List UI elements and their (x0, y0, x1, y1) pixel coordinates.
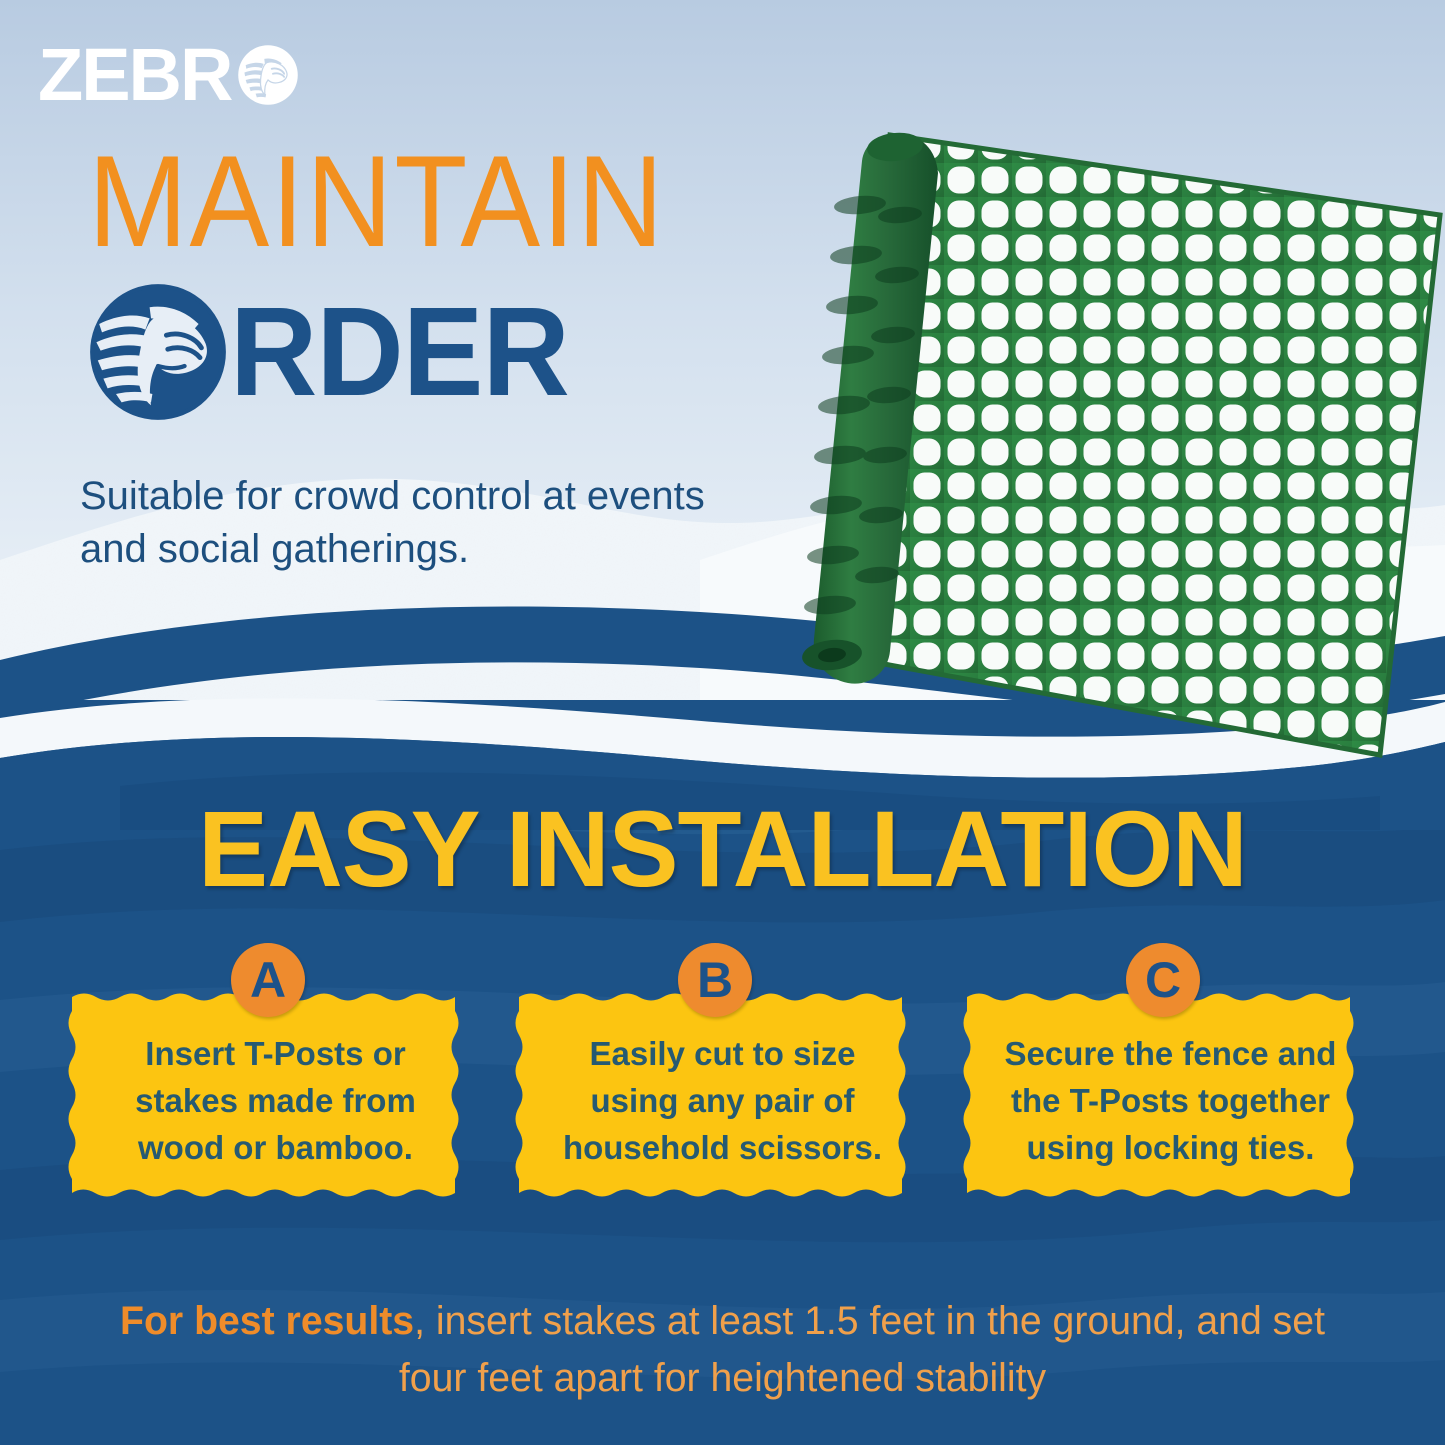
zebra-head-circle-icon (237, 44, 299, 106)
install-step-badge-a: A (231, 943, 305, 1017)
badge-letter: A (231, 943, 305, 1017)
install-step-card-b: Easily cut to size using any pair of hou… (515, 983, 930, 1236)
badge-letter: C (1126, 943, 1200, 1017)
zebra-head-circle-icon (88, 282, 228, 422)
install-step-card-c: Secure the fence and the T-Posts togethe… (963, 983, 1378, 1236)
footer-note-rest: , insert stakes at least 1.5 feet in the… (399, 1299, 1325, 1400)
brand-wordmark: ZEBR (38, 38, 231, 112)
product-infographic: ZEBR MAINTAIN (0, 0, 1445, 1445)
headline-order-text: RDER (230, 289, 569, 415)
footer-note-emphasis: For best results (120, 1299, 414, 1343)
headline-maintain: MAINTAIN (88, 140, 665, 264)
product-image-mesh-fence-roll (740, 95, 1445, 775)
headline-order-row: RDER (88, 282, 583, 422)
install-step-card-a: Insert T-Posts or stakes made from wood … (68, 983, 483, 1236)
install-step-text: Secure the fence and the T-Posts togethe… (989, 1031, 1352, 1172)
brand-logo: ZEBR (38, 38, 299, 112)
install-step-badge-c: C (1126, 943, 1200, 1017)
badge-letter: B (678, 943, 752, 1017)
hero-subtitle: Suitable for crowd control at events and… (80, 470, 720, 576)
footer-note: For best results, insert stakes at least… (103, 1293, 1343, 1407)
install-step-badge-b: B (678, 943, 752, 1017)
green-plastic-mesh-fence-roll (740, 95, 1445, 775)
install-step-text: Easily cut to size using any pair of hou… (541, 1031, 904, 1172)
section-heading-easy-installation: EASY INSTALLATION (22, 795, 1424, 903)
install-step-text: Insert T-Posts or stakes made from wood … (94, 1031, 457, 1172)
